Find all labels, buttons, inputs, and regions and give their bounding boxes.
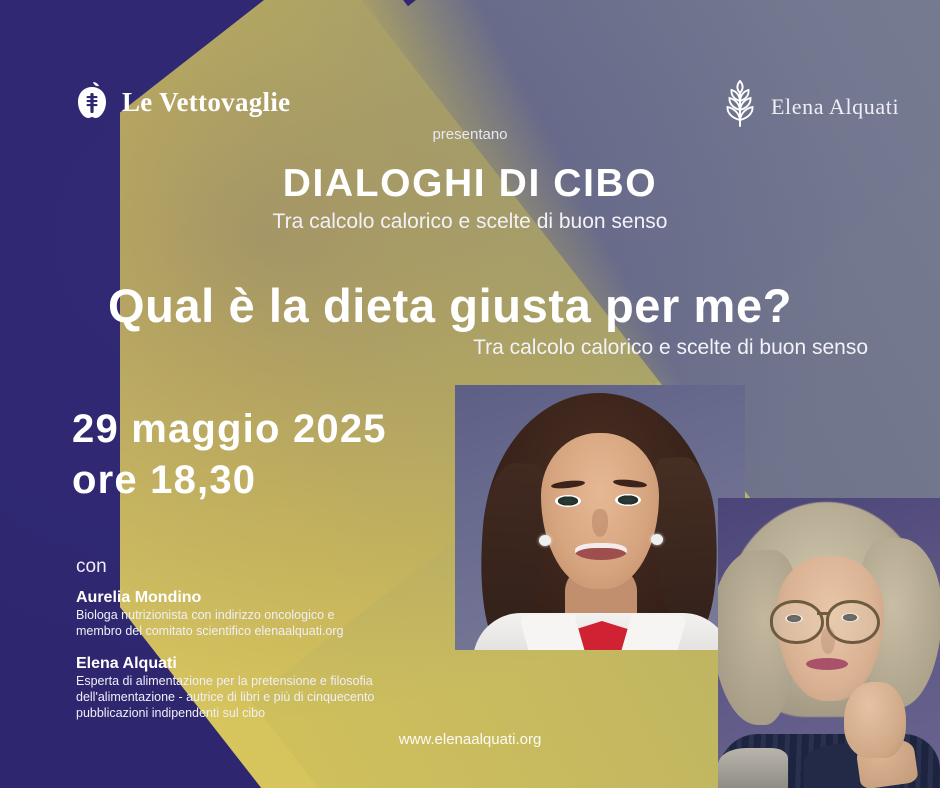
eyeglasses-lens-left — [770, 600, 824, 644]
event-date-time: 29 maggio 2025 ore 18,30 — [72, 404, 387, 506]
eye-right — [615, 494, 641, 506]
mouth — [575, 543, 627, 560]
speaker-description: Biologa nutrizionista con indirizzo onco… — [76, 608, 436, 639]
speaker-list: Aurelia Mondino Biologa nutrizionista co… — [76, 589, 436, 721]
logo-left-label: Le Vettovaglie — [122, 87, 290, 118]
event-time: ore 18,30 — [72, 455, 387, 506]
page-title: Qual è la dieta giusta per me? — [0, 278, 900, 333]
mouth — [806, 658, 848, 670]
shoulder-left — [718, 748, 788, 788]
logo-le-vettovaglie: Le Vettovaglie — [74, 80, 290, 125]
list-item: Elena Alquati Esperta di alimentazione p… — [76, 655, 436, 721]
nose — [592, 509, 608, 537]
apple-fork-icon — [74, 80, 110, 125]
headline-subtitle: Tra calcolo calorico e scelte di buon se… — [473, 336, 868, 360]
nose — [821, 628, 835, 654]
speaker-name: Elena Alquati — [76, 655, 436, 673]
list-item: Aurelia Mondino Biologa nutrizionista co… — [76, 589, 436, 639]
eyeglasses-bridge — [817, 612, 829, 615]
presentano-label: presentano — [0, 126, 940, 143]
speaker-photo-aurelia-mondino — [455, 385, 745, 650]
speaker-description: Esperta di alimentazione per la pretensi… — [76, 674, 436, 721]
earring-left — [539, 535, 551, 546]
with-label: con — [76, 556, 107, 578]
earring-right — [651, 534, 663, 545]
website-url[interactable]: www.elenaalquati.org — [0, 731, 940, 748]
event-date: 29 maggio 2025 — [72, 404, 387, 455]
event-poster: Le Vettovaglie Elena Alquati presentano … — [0, 0, 940, 788]
series-title: DIALOGHI DI CIBO — [0, 162, 940, 206]
logo-right-label: Elena Alquati — [771, 94, 899, 120]
series-subtitle: Tra calcolo calorico e scelte di buon se… — [0, 210, 940, 234]
speaker-name: Aurelia Mondino — [76, 589, 436, 607]
eye-left — [555, 495, 581, 507]
